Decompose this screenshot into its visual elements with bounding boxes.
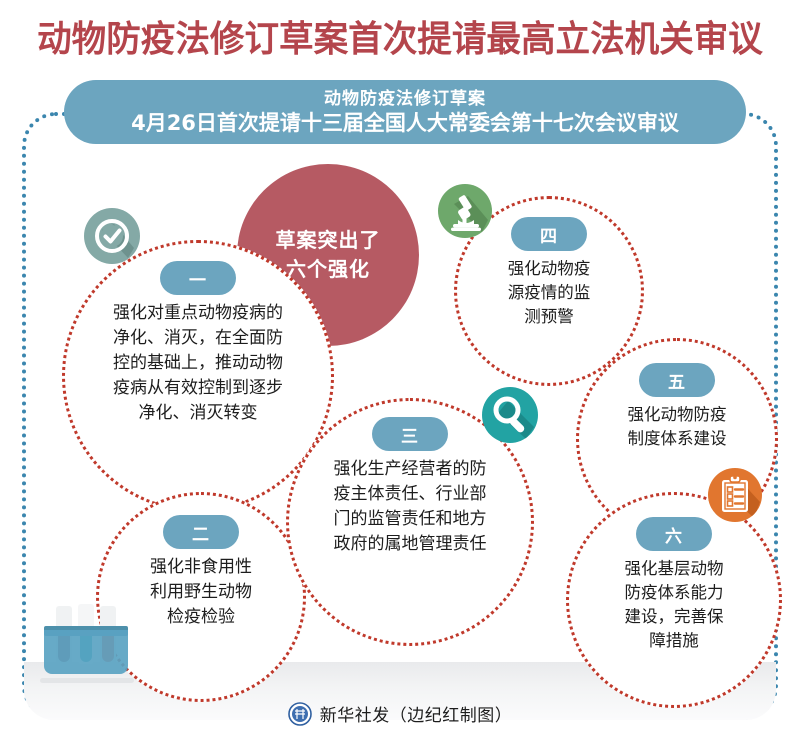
item-text-4: 强化动物疫 源疫情的监 测预警 xyxy=(502,257,597,329)
clipboard-icon xyxy=(708,468,762,522)
center-line-1: 草案突出了 xyxy=(276,226,381,255)
item-text-3: 强化生产经营者的防 疫主体责任、行业部 门的监管责任和地方 政府的属地管理责任 xyxy=(328,457,493,557)
check-circle-icon xyxy=(84,208,140,264)
credit-line: 新华社发（边纪红制图） xyxy=(0,701,800,726)
item-text-5: 强化动物防疫 制度体系建设 xyxy=(622,403,733,451)
subtitle-line-1: 动物防疫法修订草案 xyxy=(324,88,486,110)
xinhua-logo-icon xyxy=(288,702,312,726)
item-text-1: 强化对重点动物疫病的 净化、消灭，在全面防 控的基础上，推动动物 疫病从有效控制… xyxy=(107,301,289,426)
item-badge-4: 四 xyxy=(511,217,587,251)
subtitle-line-2: 4月26日首次提请十三届全国人大常委会第十七次会议审议 xyxy=(131,110,679,136)
subtitle-banner: 动物防疫法修订草案 4月26日首次提请十三届全国人大常委会第十七次会议审议 xyxy=(64,80,746,144)
item-bubble-1: 一 强化对重点动物疫病的 净化、消灭，在全面防 控的基础上，推动动物 疫病从有效… xyxy=(62,240,334,512)
item-badge-3: 三 xyxy=(372,417,448,451)
credit-text: 新华社发（边纪红制图） xyxy=(320,701,513,726)
page-title: 动物防疫法修订草案首次提请最高立法机关审议 xyxy=(16,18,784,62)
item-badge-2: 二 xyxy=(163,515,239,549)
magnifier-icon xyxy=(482,387,538,443)
item-text-6: 强化基层动物 防疫体系能力 建设，完善保 障措施 xyxy=(619,557,730,653)
item-badge-5: 五 xyxy=(639,363,715,397)
infographic-canvas: 动物防疫法修订草案首次提请最高立法机关审议 动物防疫法修订草案 4月26日首次提… xyxy=(0,0,800,744)
microscope-icon xyxy=(438,184,492,238)
item-text-2: 强化非食用性 利用野生动物 检疫检验 xyxy=(144,555,258,630)
test-tube-rack-icon xyxy=(30,600,142,692)
item-bubble-6: 六 强化基层动物 防疫体系能力 建设，完善保 障措施 xyxy=(566,492,782,708)
item-badge-1: 一 xyxy=(160,261,236,295)
center-line-2: 六个强化 xyxy=(286,255,370,284)
item-badge-6: 六 xyxy=(636,517,712,551)
